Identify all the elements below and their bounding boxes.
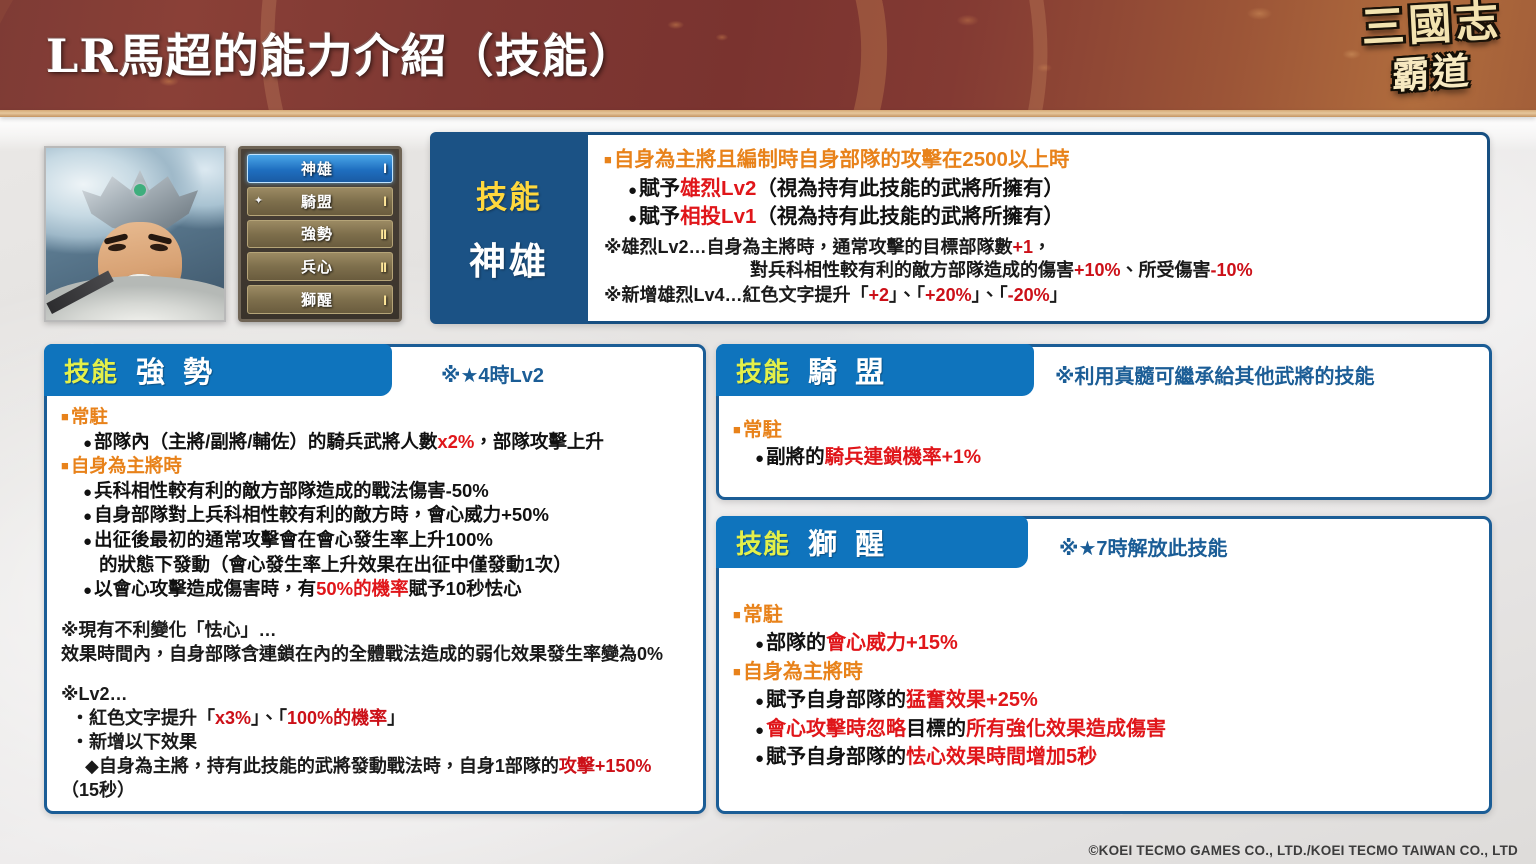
qs-note-lv2-1-highlight-1: x3% xyxy=(215,708,251,728)
qs-note-lv2-line-3: ◆自身為主將，持有此技能的武將發動戰法時，自身1部隊的攻擊+150% xyxy=(61,754,689,778)
skill-card-label: 技能 xyxy=(476,172,542,217)
qs-note-lv2-1-pre: ・紅色文字提升「 xyxy=(71,708,215,728)
bullet-dot-icon: ● xyxy=(628,210,637,227)
hero-condition-line: ■自身為主將且編制時自身部隊的攻擊在2500以上時 xyxy=(604,147,1473,173)
qs-note-lv2-line-1: ・紅色文字提升「x3%」、「100%的機率」 xyxy=(61,706,689,730)
sx-leader-effect-1: ●賦予自身部隊的猛奮效果+25% xyxy=(733,686,1475,714)
hero-effect-2-pre: 賦予 xyxy=(639,205,680,228)
hero-note-1-highlight: +1 xyxy=(1013,237,1034,257)
hero-note-3-mid-2: 」、「 xyxy=(972,285,1008,305)
skill-item-name: 騎盟 xyxy=(270,191,364,212)
sx-leader-effect-3: ●賦予自身部隊的怯心效果時間增加5秒 xyxy=(733,743,1475,771)
skill-item-level: I xyxy=(364,193,386,209)
skill-item-name: 強勢 xyxy=(270,223,364,244)
qs-leader-effect-3-cont-text: 的狀態下發動（會心發生率上升效果在出征中僅發動1次） xyxy=(99,554,572,575)
hero-note-3-highlight-2: +20% xyxy=(925,285,972,305)
qs-leader-effect-2-text: 自身部隊對上兵科相性較有利的敵方時，會心威力+50% xyxy=(94,504,549,525)
skill-item-level: I xyxy=(364,160,386,176)
skill-item-name: 兵心 xyxy=(270,256,364,277)
skill-card-name: 強 勢 xyxy=(136,349,216,391)
skill-card-qimeng: 技能 騎 盟 ※利用真髓可繼承給其他武將的技能 ■常駐 ●副將的騎兵連鎖機率+1… xyxy=(716,344,1492,500)
qs-note-lv2-line-2: ・新增以下效果 xyxy=(61,730,689,754)
bullet-dot-icon: ● xyxy=(83,484,92,501)
hero-note-line-2: 對兵科相性較有利的敵方部隊造成的傷害+10%、所受傷害-10% xyxy=(604,259,1473,282)
bullet-dot-icon: ● xyxy=(83,508,92,525)
qs-leader-effect-3: ●出征後最初的通常攻擊會在會心發生率上升100% xyxy=(61,528,689,553)
qs-note-lv2-title: ※Lv2… xyxy=(61,682,689,706)
skill-card-unlock-note: ※★4時Lv2 xyxy=(441,359,544,388)
hero-effect-1-pre: 賦予 xyxy=(639,177,680,200)
skill-list-item-shenxiong[interactable]: 神雄 I xyxy=(247,154,393,183)
sx-heading-leader: ■自身為主將時 xyxy=(733,658,1475,686)
bullet-dot-icon: ● xyxy=(755,722,764,739)
bullet-square-icon: ■ xyxy=(733,422,741,437)
hero-condition-text: 自身為主將且編制時自身部隊的攻擊在2500以上時 xyxy=(614,148,1070,171)
sx-leader-effect-3-highlight: 怯心效果時間增加5秒 xyxy=(906,746,1097,768)
hero-effect-1-post: （視為持有此技能的武將所擁有） xyxy=(756,177,1064,200)
skill-list-panel: 神雄 I ✦ 騎盟 I 強勢 II 兵心 II 獅醒 I xyxy=(238,146,402,322)
bullet-dot-icon: ● xyxy=(755,636,764,653)
bullet-dot-icon: ● xyxy=(755,750,764,767)
sx-effect-1-highlight: 會心威力+15% xyxy=(826,632,958,654)
qs-heading-passive-text: 常駐 xyxy=(71,406,108,427)
sx-leader-effect-2-mid: 目標的 xyxy=(906,718,966,740)
hero-note-3-post: 」 xyxy=(1050,285,1068,305)
bullet-dot-icon: ● xyxy=(755,450,764,467)
hero-note-2-highlight-1: +10% xyxy=(1074,260,1121,280)
hero-note-line-3: ※新增雄烈Lv4…紅色文字提升「+2」、「+20%」、「-20%」 xyxy=(604,284,1473,307)
skill-card-name: 神雄 xyxy=(469,231,549,285)
qs-heading-leader-text: 自身為主將時 xyxy=(71,455,182,476)
hero-effect-2-post: （視為持有此技能的武將所擁有） xyxy=(756,205,1064,228)
qs-leader-effect-1: ●兵科相性較有利的敵方部隊造成的戰法傷害-50% xyxy=(61,479,689,504)
qs-heading-leader: ■自身為主將時 xyxy=(61,454,689,479)
skill-item-name: 神雄 xyxy=(270,158,364,179)
hero-effect-1-highlight: 雄烈Lv2 xyxy=(680,177,756,200)
qs-note-lv2-line-4: （15秒） xyxy=(61,778,689,802)
bullet-square-icon: ■ xyxy=(604,152,612,167)
hero-note-2-mid: 、所受傷害 xyxy=(1121,260,1211,280)
sx-leader-effect-2-highlight-2: 所有強化效果造成傷害 xyxy=(966,718,1166,740)
skill-card-body: ■常駐 ●副將的騎兵連鎖機率+1% xyxy=(719,417,1489,482)
qs-note-lv2-3-highlight: 攻擊+150% xyxy=(559,756,652,776)
qs-note-lv2-1-highlight-2: 100%的機率 xyxy=(287,708,387,728)
hero-note-3-pre: ※新增雄烈Lv4…紅色文字提升「 xyxy=(604,285,869,305)
hero-note-3-highlight-3: -20% xyxy=(1008,285,1050,305)
qs-leader-effect-3-text: 出征後最初的通常攻擊會在會心發生率上升100% xyxy=(94,529,493,550)
qs-note-debuff-title: ※現有不利變化「怯心」… xyxy=(61,618,689,642)
skill-card-badge: 技能 神雄 xyxy=(430,132,588,324)
skill-card-label: 技能 xyxy=(736,524,790,561)
bullet-dot-icon: ● xyxy=(83,582,92,599)
skill-list-item-qiangshi[interactable]: 強勢 II xyxy=(247,220,393,249)
sx-leader-effect-1-pre: 賦予自身部隊的 xyxy=(766,689,906,711)
qs-effect-1-pre: 部隊內（主將/副將/輔佐）的騎兵武將人數 xyxy=(94,431,437,452)
qs-note-lv2-1-post: 」 xyxy=(387,708,405,728)
qm-effect-1-pre: 副將的 xyxy=(766,446,825,468)
copyright-notice: ©KOEI TECMO GAMES CO., LTD./KOEI TECMO T… xyxy=(1089,843,1519,858)
qs-effect-1-post: ，部隊攻擊上升 xyxy=(474,431,604,452)
skill-item-level: II xyxy=(364,226,386,242)
bullet-square-icon: ■ xyxy=(61,458,69,473)
qm-heading-passive-text: 常駐 xyxy=(743,419,782,441)
bullet-dot-icon: ● xyxy=(628,182,637,199)
bullet-square-icon: ■ xyxy=(733,607,741,622)
qs-leader-effect-4-highlight: 50%的機率 xyxy=(316,578,409,599)
sx-leader-effect-1-highlight: 猛奮效果+25% xyxy=(906,689,1038,711)
qs-leader-effect-4: ●以會心攻擊造成傷害時，有50%的機率賦予10秒怯心 xyxy=(61,577,689,602)
spacer xyxy=(61,602,689,618)
skill-card-shixing: 技能 獅 醒 ※★7時解放此技能 ■常駐 ●部隊的會心威力+15% ■自身為主將… xyxy=(716,516,1492,814)
hero-effect-line-2: ●賦予相投Lv1（視為持有此技能的武將所擁有） xyxy=(604,204,1473,230)
hero-note-2-pre: 對兵科相性較有利的敵方部隊造成的傷害 xyxy=(750,260,1074,280)
game-logo-main: 三國志 xyxy=(1343,0,1521,52)
sx-heading-passive-text: 常駐 xyxy=(743,604,783,626)
qs-passive-effect-1: ●部隊內（主將/副將/輔佐）的騎兵武將人數x2%，部隊攻擊上升 xyxy=(61,430,689,455)
qs-note-lv2-4-text: （15秒） xyxy=(61,780,135,800)
hero-note-3-highlight-1: +2 xyxy=(869,285,890,305)
qs-leader-effect-2: ●自身部隊對上兵科相性較有利的敵方時，會心威力+50% xyxy=(61,503,689,528)
sx-leader-effect-3-pre: 賦予自身部隊的 xyxy=(766,746,906,768)
qm-effect-1-highlight: 騎兵連鎖機率+1% xyxy=(825,446,982,468)
hero-note-line-1: ※雄烈Lv2…自身為主將時，通常攻擊的目標部隊數+1， xyxy=(604,236,1473,259)
spacer xyxy=(61,666,689,682)
qs-note-lv2-3-pre: ◆自身為主將，持有此技能的武將發動戰法時，自身1部隊的 xyxy=(85,756,559,776)
skill-item-name: 獅醒 xyxy=(270,289,364,310)
skill-card-header: 技能 騎 盟 xyxy=(716,344,1034,396)
hero-effect-2-highlight: 相投Lv1 xyxy=(680,205,756,228)
bullet-square-icon: ■ xyxy=(61,409,69,424)
qs-heading-passive: ■常駐 xyxy=(61,405,689,430)
qs-note-debuff-title-text: ※現有不利變化「怯心」… xyxy=(61,620,277,640)
skill-item-level: I xyxy=(364,292,386,308)
sx-passive-effect-1: ●部隊的會心威力+15% xyxy=(733,629,1475,657)
bullet-square-icon: ■ xyxy=(733,664,741,679)
skill-card-shenxiong: 技能 神雄 ■自身為主將且編制時自身部隊的攻擊在2500以上時 ●賦予雄烈Lv2… xyxy=(430,132,1490,324)
portrait-helmet-gem xyxy=(134,184,146,196)
skill-card-unlock-note: ※★7時解放此技能 xyxy=(1059,532,1228,561)
qs-note-debuff-desc: 效果時間內，自身部隊含連鎖在內的全體戰法造成的弱化效果發生率變為0% xyxy=(61,642,689,666)
inherit-icon: ✦ xyxy=(254,196,270,207)
qs-note-lv2-2-text: ・新增以下效果 xyxy=(71,732,197,752)
game-logo-sub: 霸道 xyxy=(1344,49,1520,98)
skill-card-qiangshi: 技能 強 勢 ※★4時Lv2 ■常駐 ●部隊內（主將/副將/輔佐）的騎兵武將人數… xyxy=(44,344,706,814)
skill-list-item-qimeng[interactable]: ✦ 騎盟 I xyxy=(247,187,393,216)
skill-card-label: 技能 xyxy=(736,352,790,389)
qs-leader-effect-1-text: 兵科相性較有利的敵方部隊造成的戰法傷害-50% xyxy=(94,480,489,501)
hero-note-2-highlight-2: -10% xyxy=(1211,260,1253,280)
bullet-dot-icon: ● xyxy=(755,693,764,710)
skill-card-header: 技能 獅 醒 xyxy=(716,516,1028,568)
skill-card-label: 技能 xyxy=(64,352,118,389)
qm-passive-effect-1: ●副將的騎兵連鎖機率+1% xyxy=(733,444,1475,471)
character-portrait xyxy=(44,146,226,322)
qs-note-lv2-title-text: ※Lv2… xyxy=(61,684,128,704)
skill-card-body: ■自身為主將且編制時自身部隊的攻擊在2500以上時 ●賦予雄烈Lv2（視為持有此… xyxy=(588,135,1487,321)
skill-card-body: ■常駐 ●部隊的會心威力+15% ■自身為主將時 ●賦予自身部隊的猛奮效果+25… xyxy=(719,601,1489,781)
sx-leader-effect-2: ●會心攻擊時忽略目標的所有強化效果造成傷害 xyxy=(733,715,1475,743)
skill-card-inherit-note: ※利用真髓可繼承給其他武將的技能 xyxy=(1055,360,1374,389)
skill-list-item-bingxin[interactable]: 兵心 II xyxy=(247,252,393,281)
hero-effect-line-1: ●賦予雄烈Lv2（視為持有此技能的武將所擁有） xyxy=(604,176,1473,202)
qs-leader-effect-4-pre: 以會心攻擊造成傷害時，有 xyxy=(94,578,316,599)
bullet-dot-icon: ● xyxy=(83,435,92,452)
sx-heading-passive: ■常駐 xyxy=(733,601,1475,629)
hero-note-1-post: ， xyxy=(1033,237,1051,257)
hero-note-3-mid-1: 」、「 xyxy=(889,285,925,305)
qs-leader-effect-4-post: 賦予10秒怯心 xyxy=(409,578,522,599)
skill-list-item-shixing[interactable]: 獅醒 I xyxy=(247,285,393,314)
qs-leader-effect-3-cont: 的狀態下發動（會心發生率上升效果在出征中僅發動1次） xyxy=(61,553,689,578)
skill-item-level: II xyxy=(364,259,386,275)
sx-effect-1-pre: 部隊的 xyxy=(766,632,826,654)
skill-card-header: 技能 強 勢 xyxy=(44,344,392,396)
qm-heading-passive: ■常駐 xyxy=(733,417,1475,444)
hero-note-1-pre: ※雄烈Lv2…自身為主將時，通常攻擊的目標部隊數 xyxy=(604,237,1013,257)
skill-card-name: 騎 盟 xyxy=(808,349,888,391)
qs-note-debuff-desc-text: 效果時間內，自身部隊含連鎖在內的全體戰法造成的弱化效果發生率變為0% xyxy=(61,644,663,664)
qs-effect-1-highlight: x2% xyxy=(437,431,474,452)
game-logo: 三國志 霸道 xyxy=(1344,4,1520,138)
skill-card-body: ■常駐 ●部隊內（主將/副將/輔佐）的騎兵武將人數x2%，部隊攻擊上升 ■自身為… xyxy=(47,405,703,813)
sx-heading-leader-text: 自身為主將時 xyxy=(743,661,863,683)
skill-card-name: 獅 醒 xyxy=(808,521,888,563)
content-area: 神雄 I ✦ 騎盟 I 強勢 II 兵心 II 獅醒 I 技能 神雄 xyxy=(0,0,1536,864)
bullet-dot-icon: ● xyxy=(83,533,92,550)
qs-note-lv2-1-mid: 」、「 xyxy=(251,708,287,728)
sx-leader-effect-2-highlight-1: 會心攻擊時忽略 xyxy=(766,718,906,740)
